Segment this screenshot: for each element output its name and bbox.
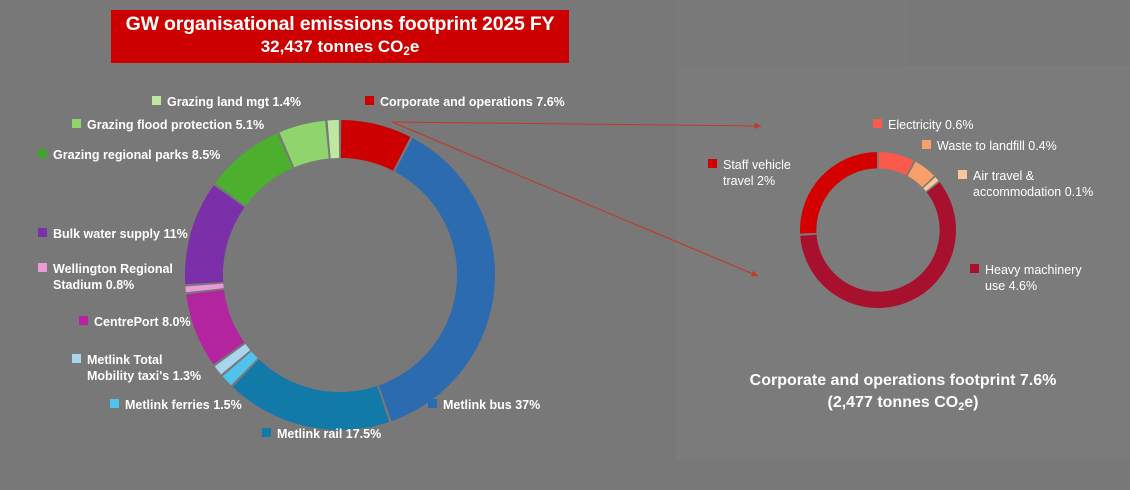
legend-metlink-bus[interactable]: Metlink bus 37% — [428, 398, 540, 414]
donut-left-svg — [185, 120, 495, 430]
legend-air-travel-accommodation[interactable]: Air travel & accommodation 0.1% — [958, 169, 1093, 200]
legend-wellington-regional-stadium[interactable]: Wellington Regional Stadium 0.8% — [38, 262, 173, 293]
legend-electricity[interactable]: Electricity 0.6% — [873, 118, 973, 134]
legend-label-metlink-bus: Metlink bus 37% — [443, 398, 540, 412]
legend-centreport[interactable]: CentrePort 8.0% — [79, 315, 191, 331]
chart-total-value: 32,437 tonnes CO — [261, 37, 404, 56]
donut-slice[interactable] — [879, 152, 914, 175]
legend-label-taxi-line1: Metlink Total — [87, 353, 162, 367]
legend-label-heavy-machinery-line2: use 4.6% — [970, 279, 1082, 295]
donut-right-slices — [800, 152, 956, 308]
chart-title-line1: GW organisational emissions footprint 20… — [126, 13, 555, 36]
legend-grazing-land-mgt[interactable]: Grazing land mgt 1.4% — [152, 95, 301, 111]
legend-staff-vehicle-travel[interactable]: Staff vehicle travel 2% — [708, 158, 791, 189]
legend-metlink-ferries[interactable]: Metlink ferries 1.5% — [110, 398, 242, 414]
donut-slice[interactable] — [800, 152, 877, 234]
legend-label-metlink-rail: Metlink rail 17.5% — [277, 427, 381, 441]
legend-heavy-machinery-use[interactable]: Heavy machinery use 4.6% — [970, 263, 1082, 294]
legend-swatch-metlink-rail — [262, 428, 271, 437]
legend-corporate-and-operations[interactable]: Corporate and operations 7.6% — [365, 95, 565, 111]
right-chart-caption: Corporate and operations footprint 7.6% … — [676, 370, 1130, 415]
donut-slice[interactable] — [800, 182, 956, 308]
right-caption-line1: Corporate and operations footprint 7.6% — [676, 370, 1130, 392]
legend-label-grazing-flood-protection: Grazing flood protection 5.1% — [87, 118, 264, 132]
legend-label-stadium-line2: Stadium 0.8% — [38, 278, 173, 294]
legend-label-heavy-machinery-line1: Heavy machinery — [985, 263, 1082, 277]
right-caption-line2: (2,477 tonnes CO2e) — [676, 392, 1130, 415]
legend-label-staff-vehicle-line1: Staff vehicle — [723, 158, 791, 172]
legend-label-grazing-land-mgt: Grazing land mgt 1.4% — [167, 95, 301, 109]
legend-label-staff-vehicle-line2: travel 2% — [708, 174, 791, 190]
legend-label-air-travel-line1: Air travel & — [973, 169, 1034, 183]
legend-swatch-bulk-water-supply — [38, 228, 47, 237]
legend-metlink-rail[interactable]: Metlink rail 17.5% — [262, 427, 381, 443]
legend-swatch-electricity — [873, 119, 882, 128]
legend-swatch-corporate-and-operations — [365, 96, 374, 105]
legend-grazing-flood-protection[interactable]: Grazing flood protection 5.1% — [72, 118, 264, 134]
legend-label-metlink-ferries: Metlink ferries 1.5% — [125, 398, 242, 412]
legend-label-air-travel-line2: accommodation 0.1% — [958, 185, 1093, 201]
legend-swatch-grazing-flood-protection — [72, 119, 81, 128]
legend-swatch-centreport — [79, 316, 88, 325]
legend-label-taxi-line2: Mobility taxi's 1.3% — [72, 369, 201, 385]
legend-label-grazing-regional-parks: Grazing regional parks 8.5% — [53, 148, 220, 162]
legend-label-electricity: Electricity 0.6% — [888, 118, 973, 132]
donut-slice[interactable] — [185, 185, 245, 284]
donut-slice[interactable] — [328, 120, 340, 158]
connector-arrows — [0, 0, 1130, 490]
legend-label-corporate-and-operations: Corporate and operations 7.6% — [380, 95, 565, 109]
donut-slice[interactable] — [379, 138, 495, 421]
legend-swatch-heavy-machinery-use — [970, 264, 979, 273]
donut-right-svg — [800, 152, 956, 308]
chart-title-banner: GW organisational emissions footprint 20… — [111, 10, 569, 63]
legend-label-bulk-water-supply: Bulk water supply 11% — [53, 227, 188, 241]
legend-swatch-metlink-bus — [428, 399, 437, 408]
organisational-emissions-donut-chart — [185, 120, 495, 430]
legend-swatch-air-travel-accommodation — [958, 170, 967, 179]
legend-swatch-metlink-total-mobility-taxis — [72, 354, 81, 363]
legend-label-stadium-line1: Wellington Regional — [53, 262, 173, 276]
legend-grazing-regional-parks[interactable]: Grazing regional parks 8.5% — [38, 148, 220, 164]
donut-left-slices — [185, 120, 495, 430]
co2-subscript: 2 — [403, 46, 409, 58]
legend-label-centreport: CentrePort 8.0% — [94, 315, 191, 329]
legend-waste-to-landfill[interactable]: Waste to landfill 0.4% — [922, 139, 1057, 155]
co2-suffix: e — [410, 37, 419, 56]
legend-label-waste-to-landfill: Waste to landfill 0.4% — [937, 139, 1057, 153]
chart-title-line2: 32,437 tonnes CO2e — [261, 36, 420, 60]
legend-swatch-waste-to-landfill — [922, 140, 931, 149]
legend-swatch-wellington-regional-stadium — [38, 263, 47, 272]
legend-swatch-grazing-land-mgt — [152, 96, 161, 105]
right-caption-total: (2,477 tonnes CO — [828, 394, 959, 411]
legend-bulk-water-supply[interactable]: Bulk water supply 11% — [38, 227, 188, 243]
legend-swatch-staff-vehicle-travel — [708, 159, 717, 168]
legend-swatch-grazing-regional-parks — [38, 149, 47, 158]
right-co2-subscript: 2 — [958, 401, 964, 413]
background-panel-top-right — [676, 0, 908, 66]
corporate-operations-donut-chart — [800, 152, 956, 308]
right-co2-suffix: e) — [964, 394, 978, 411]
donut-slice[interactable] — [233, 359, 389, 430]
legend-metlink-total-mobility-taxis[interactable]: Metlink Total Mobility taxi's 1.3% — [72, 353, 201, 384]
legend-swatch-metlink-ferries — [110, 399, 119, 408]
